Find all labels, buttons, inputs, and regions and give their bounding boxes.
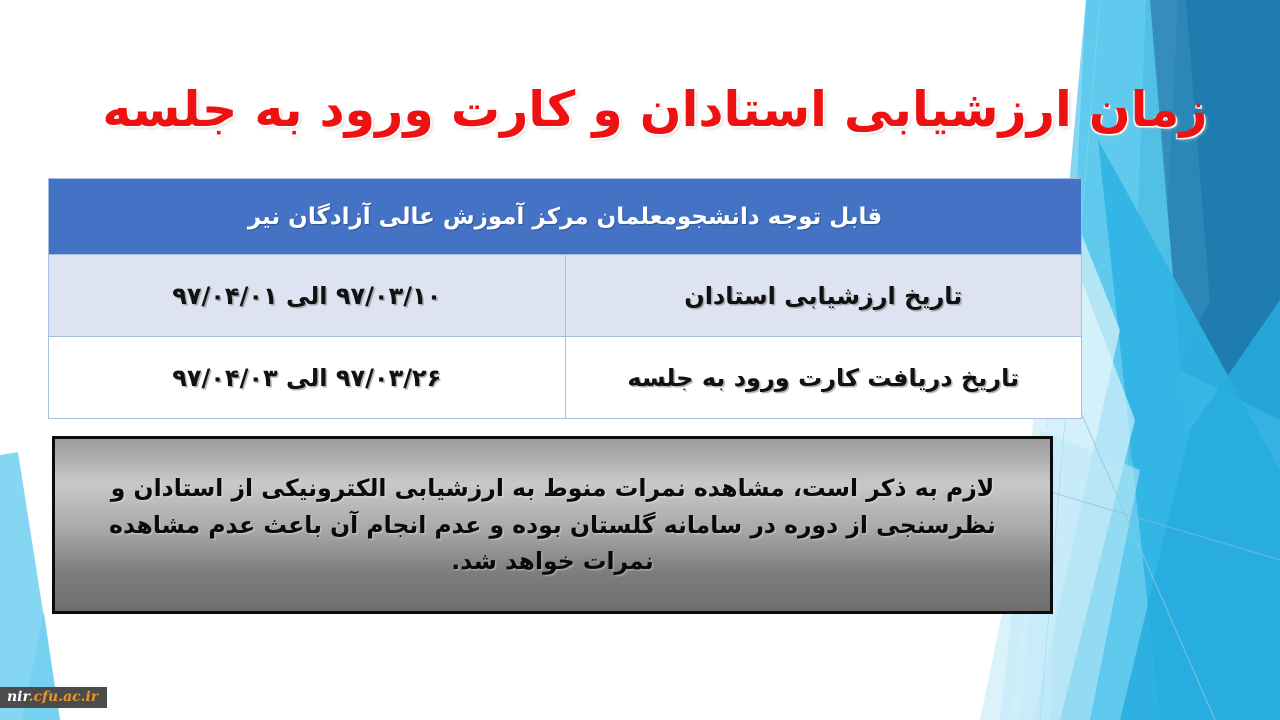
row-value-exam-card-date: ۹۷/۰۳/۲۶ الی ۹۷/۰۴/۰۳ [49, 337, 566, 419]
row-label-evaluation-date: تاریخ ارزشیابی استادان [565, 255, 1082, 337]
slide-canvas: زمان ارزشیابی استادان و کارت ورود به جلس… [0, 0, 1280, 720]
watermark-suffix: .cfu.ac.ir [29, 689, 99, 705]
table-body: تاریخ ارزشیابی استادان ۹۷/۰۳/۱۰ الی ۹۷/۰… [49, 255, 1082, 419]
site-watermark: nir.cfu.ac.ir [0, 687, 107, 708]
page-title: زمان ارزشیابی استادان و کارت ورود به جلس… [90, 82, 1220, 138]
table-row: تاریخ دریافت کارت ورود به جلسه ۹۷/۰۳/۲۶ … [49, 337, 1082, 419]
table-header-row: قابل توجه دانشجومعلمان مرکز آموزش عالی آ… [49, 179, 1082, 255]
watermark-prefix: nir [7, 689, 29, 705]
table-header-title: قابل توجه دانشجومعلمان مرکز آموزش عالی آ… [49, 179, 1082, 255]
notice-text: لازم به ذکر است، مشاهده نمرات منوط به ار… [55, 470, 1050, 579]
schedule-table: قابل توجه دانشجومعلمان مرکز آموزش عالی آ… [48, 178, 1082, 419]
table-row: تاریخ ارزشیابی استادان ۹۷/۰۳/۱۰ الی ۹۷/۰… [49, 255, 1082, 337]
notice-box: لازم به ذکر است، مشاهده نمرات منوط به ار… [52, 436, 1053, 614]
table-head: قابل توجه دانشجومعلمان مرکز آموزش عالی آ… [49, 179, 1082, 255]
row-label-exam-card-date: تاریخ دریافت کارت ورود به جلسه [565, 337, 1082, 419]
row-value-evaluation-date: ۹۷/۰۳/۱۰ الی ۹۷/۰۴/۰۱ [49, 255, 566, 337]
